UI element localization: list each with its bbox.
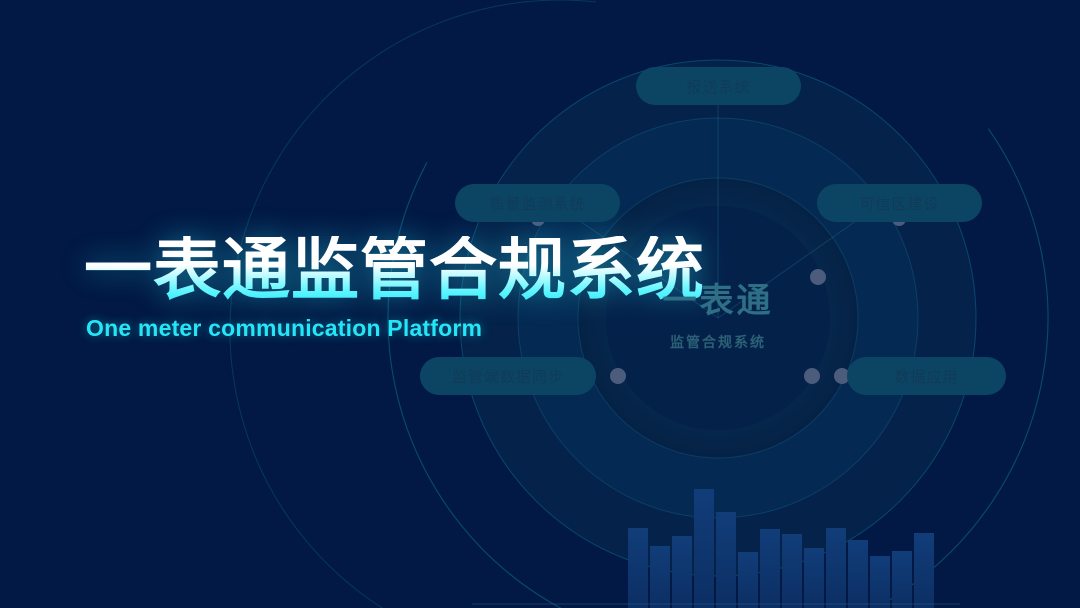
node-pill-baosong[interactable]: 报送系统 <box>636 67 801 105</box>
node-pill-zhiliang[interactable]: 质量监测系统 <box>455 184 620 222</box>
node-pill-tongbu[interactable]: 监管端数据同步 <box>420 357 596 395</box>
hub-caption: 监管合规系统 <box>598 332 838 352</box>
hub-name: 一表通 <box>598 284 838 318</box>
node-pill-yingyong[interactable]: 数据应用 <box>847 357 1006 395</box>
node-pill-label: 可信区建设 <box>859 193 939 214</box>
hub-label: 一表通 监管合规系统 <box>598 284 838 352</box>
node-pill-label: 监管端数据同步 <box>452 366 564 387</box>
node-pill-kexinqu[interactable]: 可信区建设 <box>817 184 982 222</box>
node-pill-label: 数据应用 <box>894 366 958 387</box>
slide-canvas: 一表通监管合规系统 One meter communication Platfo… <box>0 0 1080 608</box>
node-pill-label: 报送系统 <box>686 76 750 97</box>
node-pill-label: 质量监测系统 <box>489 193 585 214</box>
